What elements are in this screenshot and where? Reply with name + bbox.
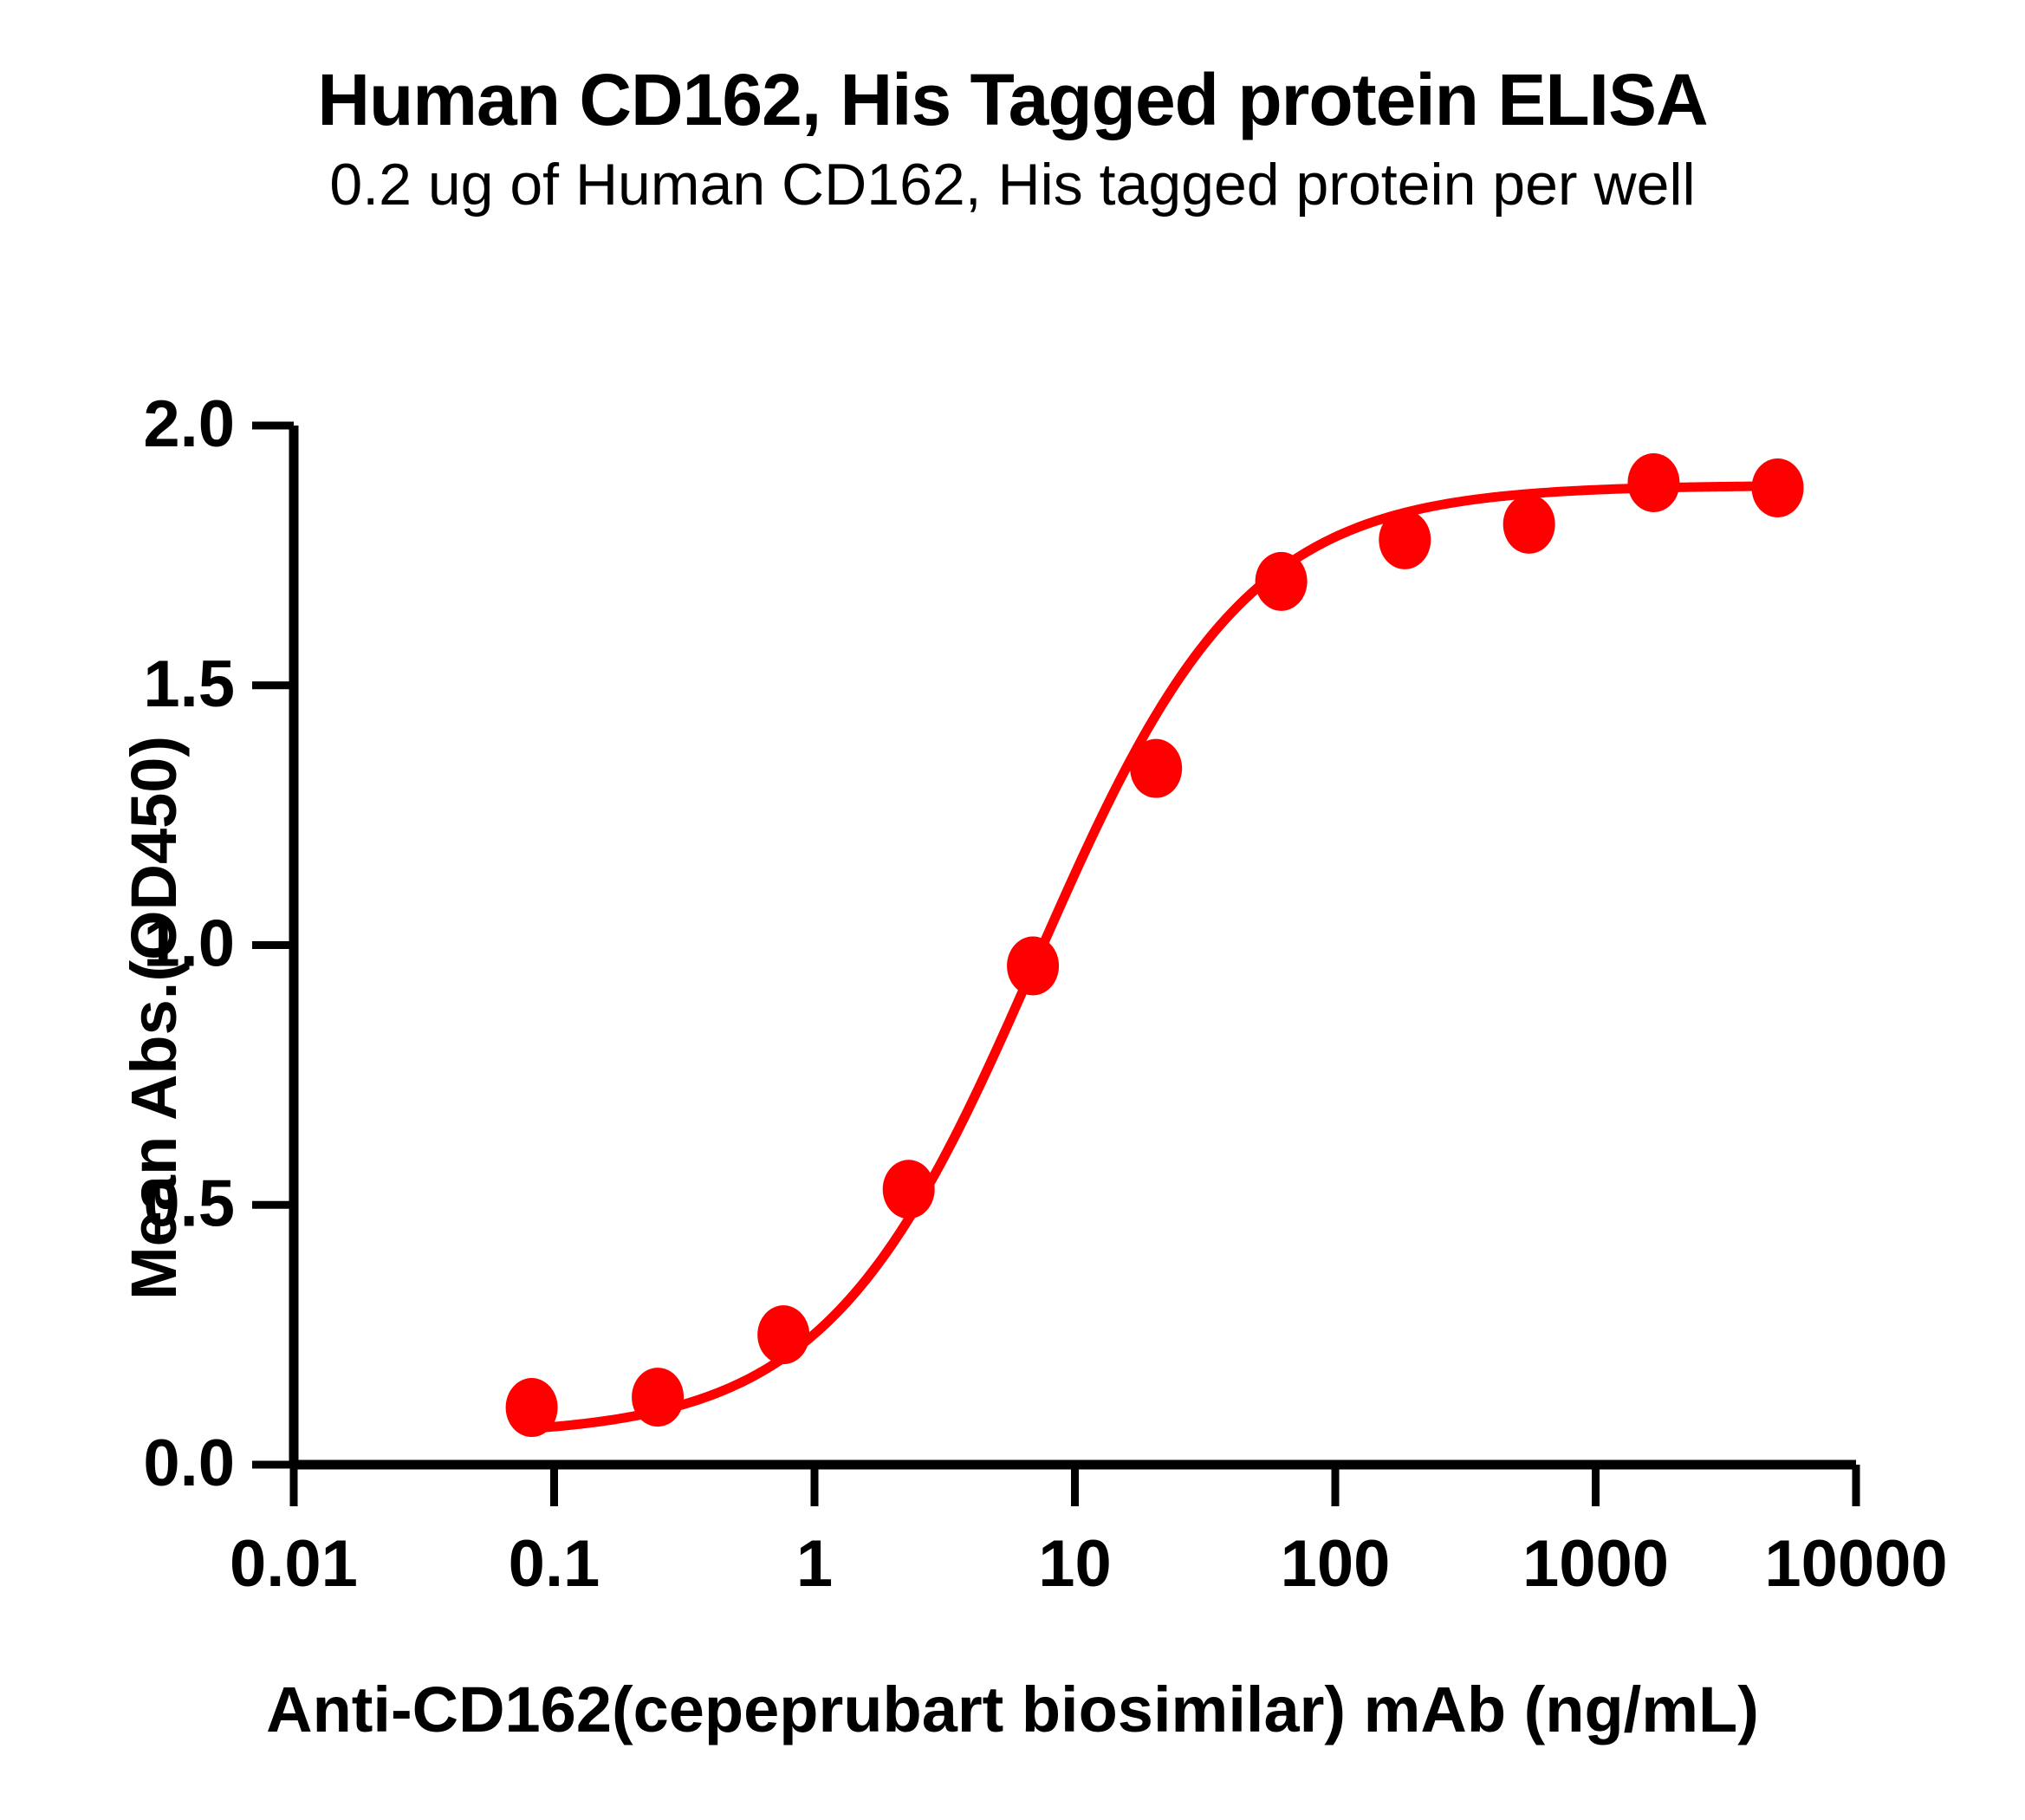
x-tick-label: 10000 — [1764, 1527, 1947, 1601]
data-point-marker — [1627, 453, 1679, 512]
data-point-marker — [1007, 936, 1059, 995]
y-tick-label: 1.5 — [143, 647, 235, 721]
x-tick-label: 10 — [1038, 1527, 1112, 1601]
data-points-group — [506, 453, 1804, 1437]
x-tick-label: 1 — [796, 1527, 833, 1601]
x-tick-label: 100 — [1281, 1527, 1391, 1601]
data-point-marker — [1379, 510, 1431, 569]
y-tick-label: 0.5 — [143, 1167, 235, 1240]
elisa-chart-figure: Human CD162, His Tagged protein ELISA 0.… — [0, 0, 2025, 1820]
y-tick-label: 1.0 — [143, 907, 235, 981]
x-tick-label: 1000 — [1522, 1527, 1669, 1601]
data-point-marker — [757, 1305, 809, 1364]
data-point-marker — [1503, 495, 1555, 554]
fit-curve-group — [532, 486, 1778, 1428]
data-point-marker — [1256, 552, 1308, 611]
fit-curve — [532, 486, 1778, 1428]
y-axis-ticks: 0.00.51.01.52.0 — [143, 387, 294, 1500]
x-tick-label: 0.01 — [230, 1527, 358, 1601]
plot-area: 0.00.51.01.52.0 0.010.1110100100010000 — [0, 0, 2025, 1820]
y-tick-label: 2.0 — [143, 387, 235, 461]
data-point-marker — [1130, 739, 1182, 798]
y-tick-label: 0.0 — [143, 1427, 235, 1500]
data-point-marker — [506, 1378, 558, 1437]
data-point-marker — [883, 1160, 935, 1219]
x-axis-ticks: 0.010.1110100100010000 — [230, 1465, 1948, 1601]
data-point-marker — [632, 1368, 684, 1427]
x-tick-label: 0.1 — [509, 1527, 600, 1601]
data-point-marker — [1752, 458, 1804, 517]
